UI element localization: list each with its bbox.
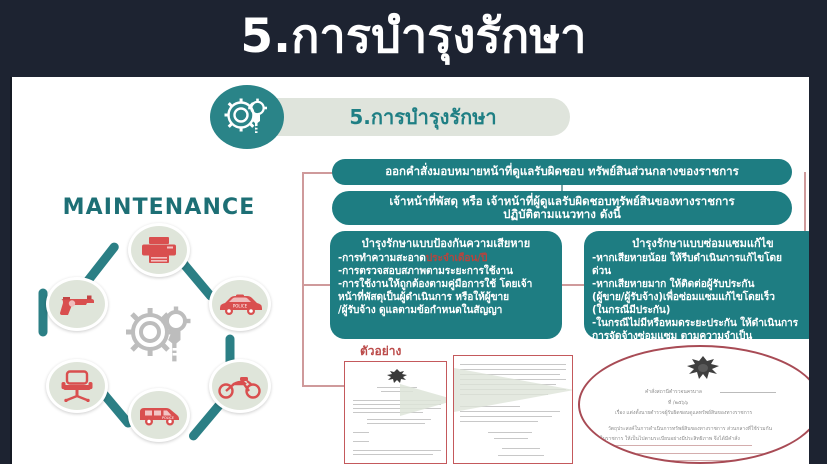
example-label: ตัวอย่าง (360, 342, 401, 361)
panel-preventive-line-1: -การทำความสะอาดประจำเดือน/ปี (338, 252, 554, 265)
flow-box-staff-line1: เจ้าหน้าที่พัสดุ หรือ เจ้าหน้าที่ผู้ดูแล… (379, 194, 744, 208)
panel-corrective-line-6: -ในกรณีไม่มีหรือหมดระยะประกัน ให้ดำเนินก… (592, 317, 809, 330)
connector-to-prevent-panel (302, 284, 332, 286)
printer-icon[interactable] (128, 223, 190, 277)
panel-preventive-line-4: หน้าที่พัสดุเป็นผู้ดำเนินการ หรือให้ผู้ข… (338, 291, 554, 304)
connector-left-rail (302, 172, 304, 386)
panel-corrective-line-1: -หากเสียหายน้อย ให้รีบดำเนินการแก้ไขโดย (592, 252, 809, 265)
panel-preventive-line1-pre: -การทำความสะอาด (338, 253, 426, 264)
connector-to-example-doc (302, 385, 348, 387)
panel-corrective-line-5: (ในกรณีมีประกัน) (592, 304, 809, 317)
panel-corrective-maintenance[interactable]: บำรุงรักษาแบบซ่อมแซมแก้ไข -หากเสียหายน้อ… (584, 231, 809, 339)
garuda-emblem-icon (682, 355, 724, 381)
maintenance-wheel: POLICE (28, 220, 290, 445)
magnifier-line-no: ที่ /๒๕๖๖ (668, 399, 688, 407)
panel-corrective-line-2: ด่วน (592, 265, 809, 278)
magnifier-line-subject: เรื่อง แต่งตั้งนายตำรวจผู้รับผิดชอบดูแลท… (615, 409, 752, 417)
connector-to-order-box (302, 172, 334, 174)
panel-corrective-title: บำรุงรักษาแบบซ่อมแซมแก้ไข (592, 237, 809, 250)
document-magnifier[interactable]: คำสั่งสถานีตำรวจนครบาล ที่ /๒๕๖๖ เรื่อง … (578, 345, 809, 464)
flow-box-staff[interactable]: เจ้าหน้าที่พัสดุ หรือ เจ้าหน้าที่ผู้ดูแล… (332, 191, 792, 225)
example-document-1[interactable] (344, 361, 447, 464)
panel-preventive-line-5: /ผู้รับจ้าง ดูแลตามข้อกำหนดในสัญญา (338, 304, 554, 317)
police-car-icon[interactable]: POLICE (209, 277, 271, 331)
panel-preventive-title: บำรุงรักษาแบบป้องกันความเสียหาย (338, 237, 554, 250)
magnifier-line-heading: คำสั่งสถานีตำรวจนครบาล (645, 388, 702, 396)
flow-box-staff-line2: ปฏิบัติตามแนวทาง ดังนี้ (493, 207, 631, 221)
flow-box-order[interactable]: ออกคำสั่งมอบหมายหน้าที่ดูแลรับผิดชอบ ทรั… (332, 159, 792, 185)
panel-preventive-maintenance[interactable]: บำรุงรักษาแบบป้องกันความเสียหาย -การทำคว… (330, 231, 562, 339)
example-document-2[interactable] (453, 355, 573, 464)
motorcycle-icon[interactable] (209, 359, 271, 413)
gear-wrench-icon (120, 298, 200, 370)
flow-box-staff-label: เจ้าหน้าที่พัสดุ หรือ เจ้าหน้าที่ผู้ดูแล… (369, 195, 754, 221)
svg-text:POLICE: POLICE (162, 416, 174, 420)
panel-corrective-line-4: (ผู้ขาย/ผู้รับจ้าง)เพื่อซ่อมแซมแก้ไขโดยเ… (592, 291, 809, 304)
pistol-icon[interactable] (46, 277, 108, 331)
garuda-emblem-icon (383, 368, 411, 384)
panel-preventive-line-2: -การตรวจสอบสภาพตามระยะการใช้งาน (338, 265, 554, 278)
maintenance-heading: MAINTENANCE (30, 195, 288, 220)
slide-canvas: 5.การบำรุงรักษา (12, 77, 809, 464)
panel-preventive-line1-highlight: ประจำเดือน/ปี (426, 253, 487, 264)
presentation-stage: 5.การบำรุงรักษา 5.การบำรุงรักษา (0, 0, 827, 464)
gear-wrench-icon (210, 85, 284, 149)
svg-text:POLICE: POLICE (233, 304, 248, 309)
office-chair-icon[interactable] (46, 359, 108, 413)
panel-corrective-line-7: การจัดจ้างซ่อมแซม ตามความจำเป็น (592, 330, 809, 343)
wheel-link (39, 289, 48, 337)
slide-header-title: 5.การบำรุงรักษา (313, 107, 496, 127)
panel-preventive-line-3: -การใช้งานให้ถูกต้องตามคู่มือการใช้ โดยเ… (338, 278, 554, 291)
page-title: 5.การบำรุงรักษา (0, 2, 827, 70)
magnifier-body-2: ในราชการ ให้เป็นไปตามระเบียบอย่างมีประสิ… (600, 435, 740, 443)
flow-box-order-label: ออกคำสั่งมอบหมายหน้าที่ดูแลรับผิดชอบ ทรั… (375, 165, 749, 178)
magnifier-body-1: วัตถุประสงค์ในการดำเนินการทรัพย์สินของทา… (608, 425, 772, 433)
panel-corrective-line-3: -หากเสียหายมาก ให้ติดต่อผู้รับประกัน (592, 278, 809, 291)
slide-header-banner: 5.การบำรุงรักษา (240, 98, 570, 136)
van-icon[interactable]: POLICE (128, 388, 190, 442)
